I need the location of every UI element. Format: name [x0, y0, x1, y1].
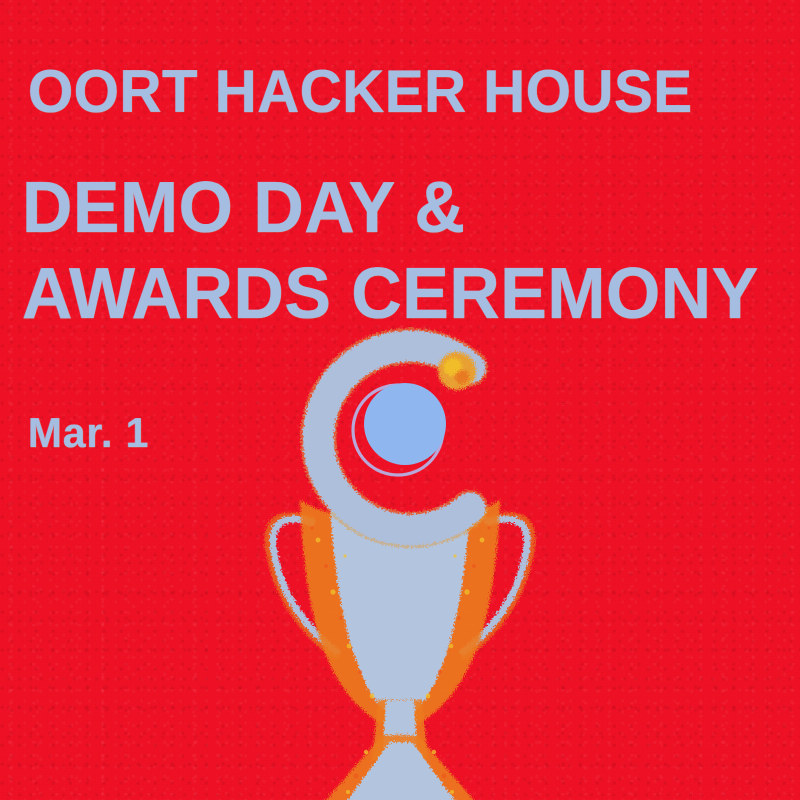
poster-canvas: OORT HACKER HOUSE DEMO DAY & AWARDS CERE… — [0, 0, 800, 800]
poster-background — [0, 0, 800, 800]
